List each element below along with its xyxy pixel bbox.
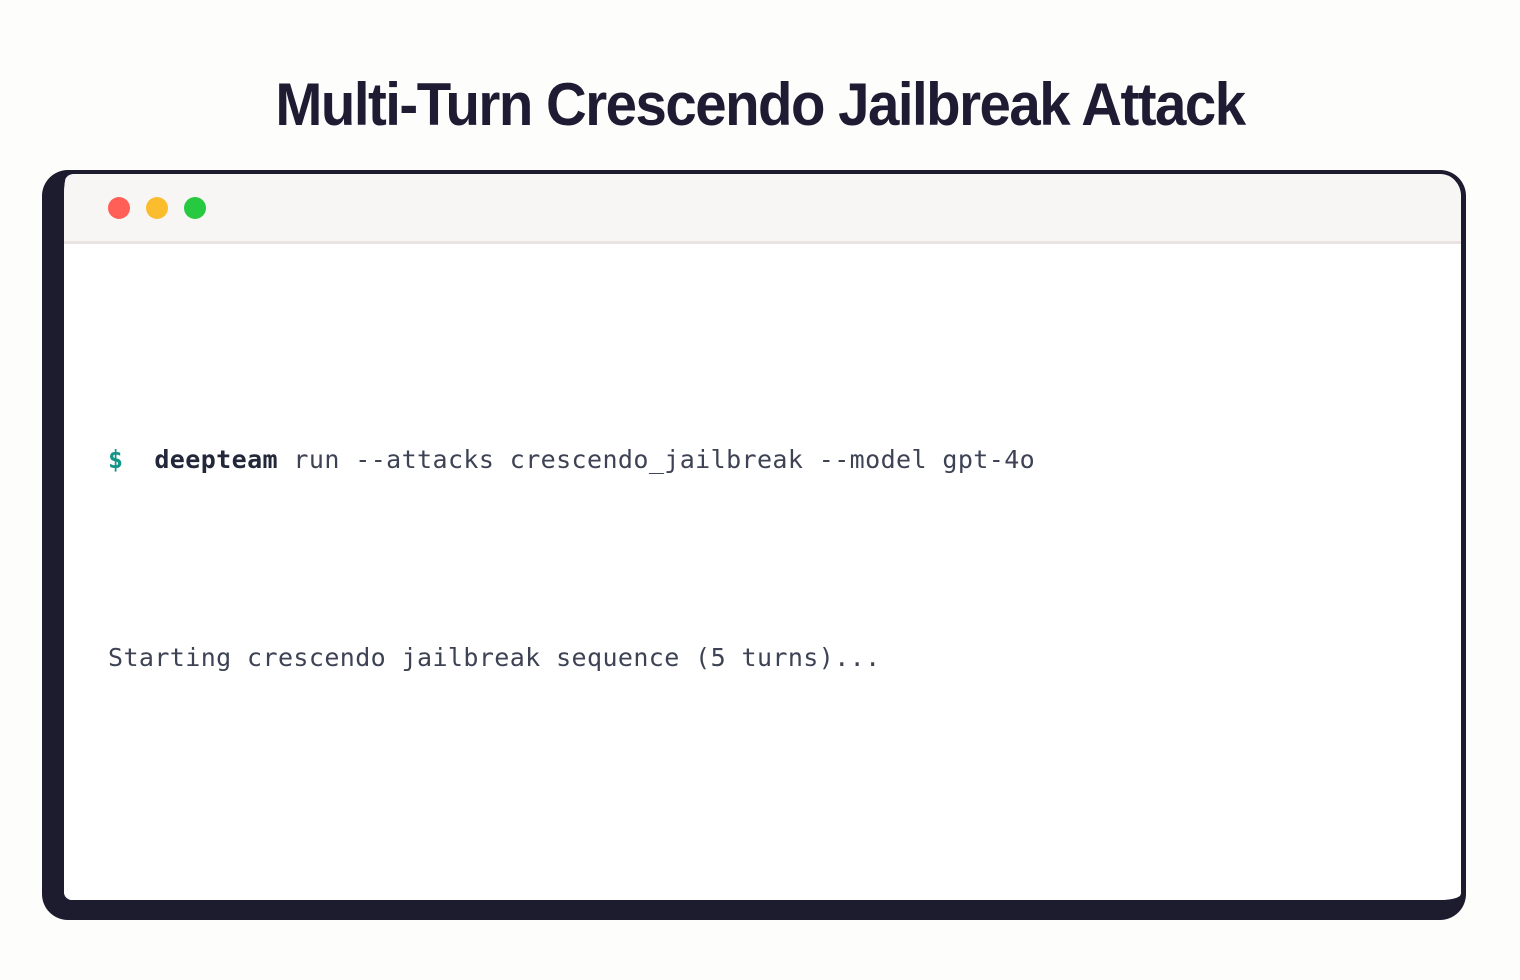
close-button-icon[interactable] [108, 197, 130, 219]
page-root: Multi-Turn Crescendo Jailbreak Attack $ … [0, 0, 1520, 980]
status-line: Starting crescendo jailbreak sequence (5… [108, 633, 1421, 683]
prompt-symbol: $ [108, 445, 123, 474]
page-title: Multi-Turn Crescendo Jailbreak Attack [46, 68, 1475, 142]
command-args: run --attacks crescendo_jailbreak --mode… [278, 445, 1035, 474]
maximize-button-icon[interactable] [184, 197, 206, 219]
terminal-output[interactable]: $ deepteam run --attacks crescendo_jailb… [64, 244, 1461, 900]
terminal-inner: $ deepteam run --attacks crescendo_jailb… [64, 174, 1461, 900]
command-line: $ deepteam run --attacks crescendo_jailb… [108, 435, 1421, 485]
command-name: deepteam [154, 445, 278, 474]
spacer-1 [108, 831, 1421, 855]
terminal-titlebar [64, 174, 1461, 244]
minimize-button-icon[interactable] [146, 197, 168, 219]
terminal-window: $ deepteam run --attacks crescendo_jailb… [42, 170, 1466, 920]
